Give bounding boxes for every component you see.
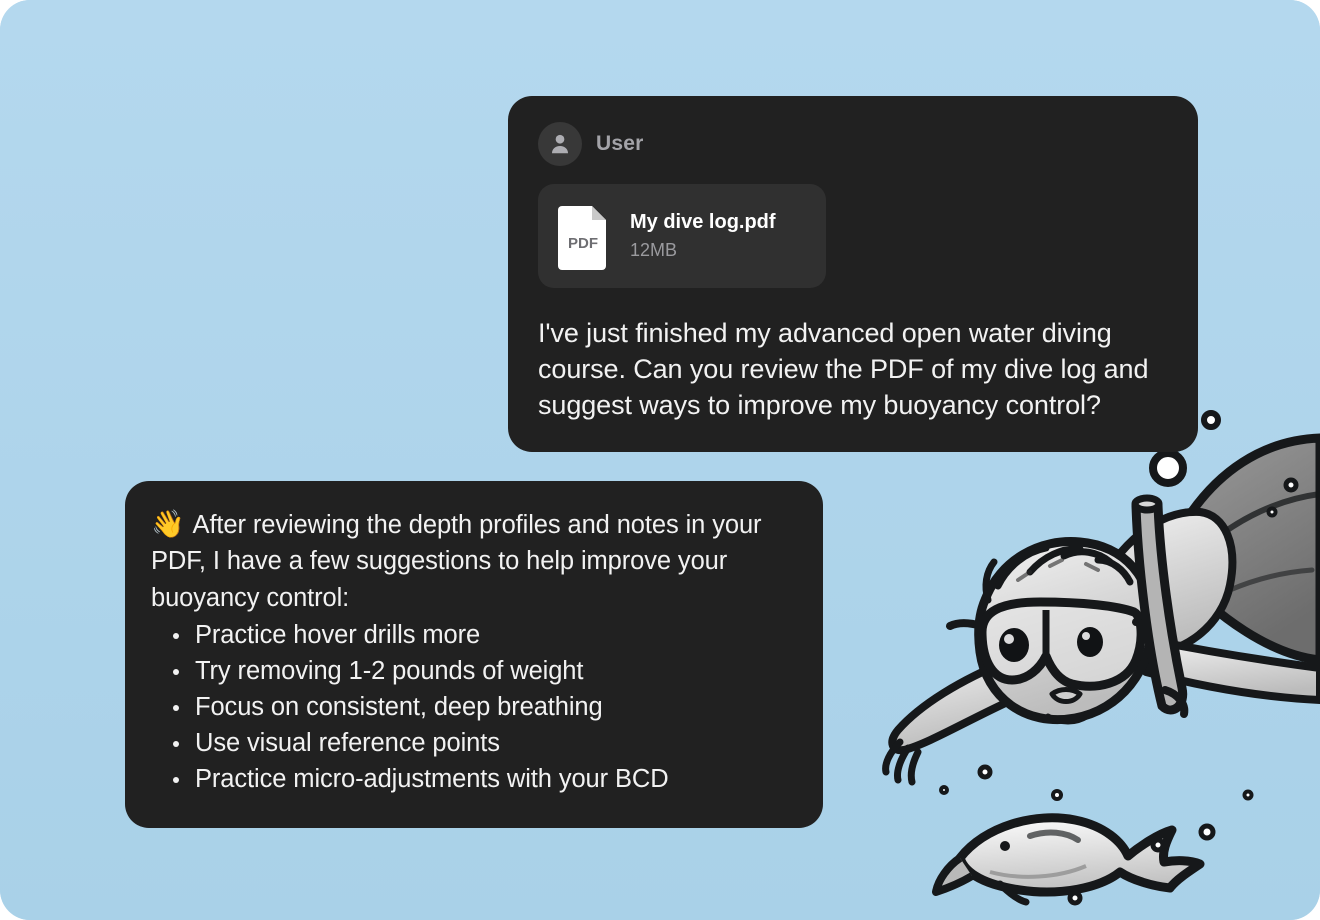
assistant-message-bubble: 👋After reviewing the depth profiles and … xyxy=(125,481,823,828)
assistant-intro-copy: After reviewing the depth profiles and n… xyxy=(151,511,761,612)
attachment-file-name: My dive log.pdf xyxy=(630,211,776,234)
pdf-type-label: PDF xyxy=(568,235,598,252)
app-canvas: User PDF My dive log.pdf 12MB I've just … xyxy=(0,0,1320,920)
list-item: Practice hover drills more xyxy=(171,618,793,654)
list-item: Use visual reference points xyxy=(171,726,793,762)
chat-thread: User PDF My dive log.pdf 12MB I've just … xyxy=(0,0,1320,920)
user-message-header: User xyxy=(538,122,1168,166)
person-icon xyxy=(538,122,582,166)
attachment-meta: My dive log.pdf 12MB xyxy=(630,211,804,261)
list-item: Focus on consistent, deep breathing xyxy=(171,690,793,726)
suggestions-list: Practice hover drills more Try removing … xyxy=(151,618,793,798)
list-item: Practice micro-adjustments with your BCD xyxy=(171,762,793,798)
waving-hand-icon: 👋 xyxy=(151,509,185,539)
attachment-file-size: 12MB xyxy=(630,240,776,261)
list-item: Try removing 1-2 pounds of weight xyxy=(171,654,793,690)
user-name-label: User xyxy=(596,132,644,156)
user-message-bubble: User PDF My dive log.pdf 12MB I've just … xyxy=(508,96,1198,452)
assistant-intro-text: 👋After reviewing the depth profiles and … xyxy=(151,505,793,616)
attachment-card[interactable]: PDF My dive log.pdf 12MB xyxy=(538,184,826,288)
user-message-text: I've just finished my advanced open wate… xyxy=(538,316,1168,424)
pdf-file-icon: PDF xyxy=(556,202,612,270)
